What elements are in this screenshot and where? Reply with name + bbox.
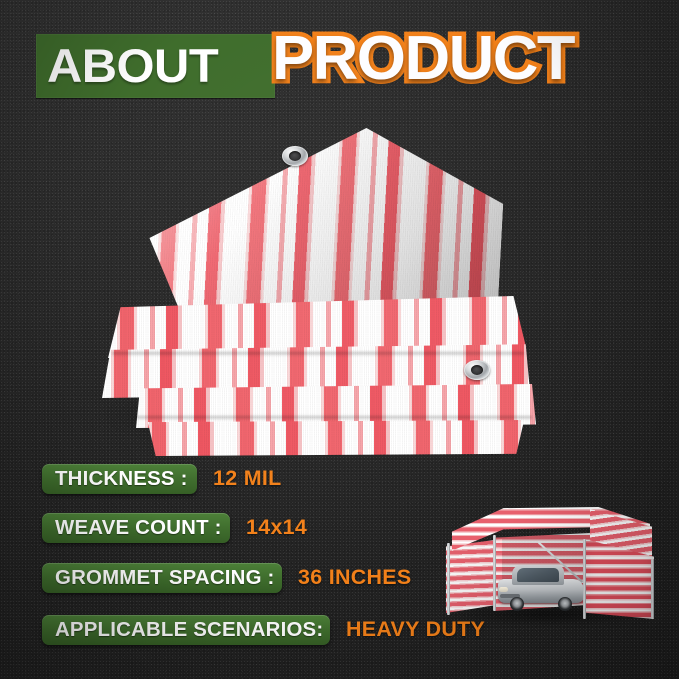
- tarp-fold-bottom-2: [140, 420, 532, 456]
- spec-row-applicable-scenarios: APPLICABLE SCENARIOS: HEAVY DUTY: [42, 613, 483, 647]
- spec-label-grommet-spacing: GROMMET SPACING :: [55, 567, 275, 590]
- grommet-icon: [282, 146, 308, 166]
- header-banner: ABOUT PRODUCT: [0, 28, 679, 110]
- tarp-weave-texture: [140, 420, 532, 456]
- spec-row-weave-count: WEAVE COUNT : 14x14: [42, 511, 306, 545]
- spec-value-grommet-spacing: 36 INCHES: [298, 566, 411, 590]
- spec-row-grommet-spacing: GROMMET SPACING : 36 INCHES: [42, 561, 410, 595]
- spec-label-thickness: THICKNESS :: [55, 468, 188, 491]
- car-wheel-rear: [558, 597, 572, 611]
- product-photo-folded-tarp: [92, 128, 540, 458]
- spec-badge-thickness: THICKNESS :: [42, 464, 197, 494]
- title-product: PRODUCT: [272, 28, 574, 90]
- spec-label-weave-count: WEAVE COUNT :: [55, 517, 222, 540]
- title-about: ABOUT: [47, 42, 218, 89]
- spec-label-applicable-scenarios: APPLICABLE SCENARIOS:: [55, 619, 323, 642]
- car-wheel-front: [510, 597, 524, 611]
- carport-post: [447, 543, 450, 615]
- tarp-fold-crease: [136, 416, 532, 420]
- car-headlight: [499, 587, 508, 592]
- spec-value-weave-count: 14x14: [246, 516, 307, 540]
- spec-badge-grommet-spacing: GROMMET SPACING :: [42, 563, 282, 593]
- infographic-canvas: ABOUT PRODUCT THICKNESS :: [0, 0, 679, 679]
- carport-post: [583, 539, 586, 619]
- spec-row-thickness: THICKNESS : 12 MIL: [42, 462, 280, 496]
- tarp-fold-crease: [112, 352, 524, 356]
- spec-badge-applicable-scenarios: APPLICABLE SCENARIOS:: [42, 615, 330, 645]
- carport-post: [651, 559, 654, 619]
- car-windshield: [517, 568, 559, 582]
- spec-badge-weave-count: WEAVE COUNT :: [42, 513, 230, 543]
- grommet-icon: [464, 360, 490, 380]
- spec-value-thickness: 12 MIL: [213, 467, 281, 491]
- carport-post: [493, 535, 496, 611]
- inset-photo-carport: [438, 503, 658, 623]
